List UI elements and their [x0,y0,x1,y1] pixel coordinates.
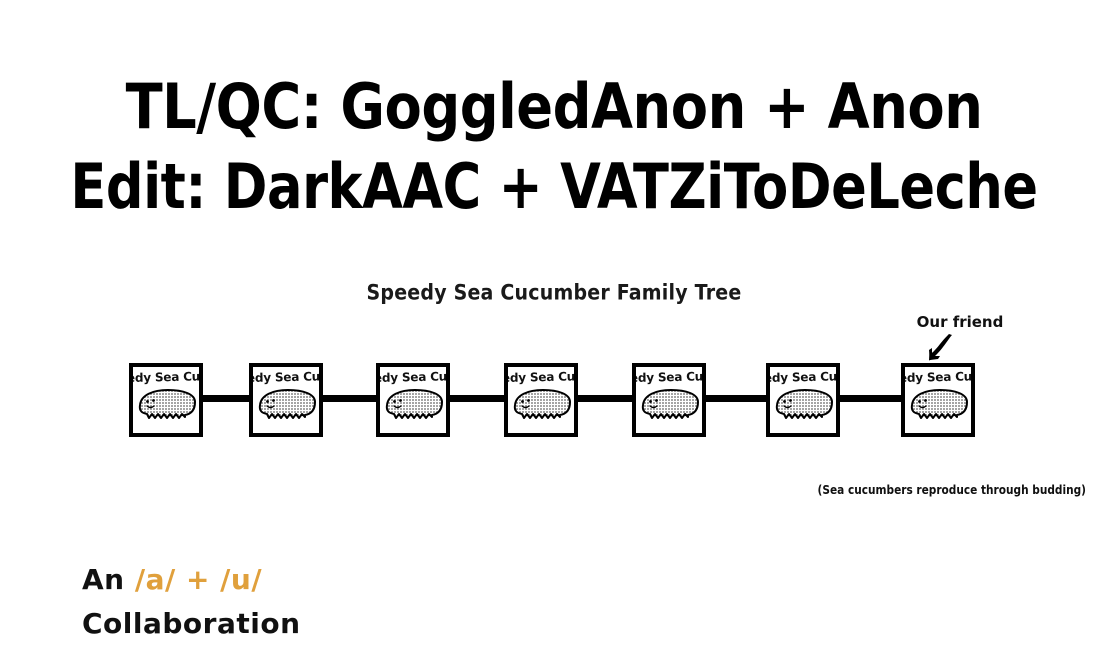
node-label-6: eedy Sea Cuc [766,369,840,385]
node-label-2: eedy Sea Cuc [249,369,323,385]
family-tree-node-2: eedy Sea Cuc [249,363,323,437]
family-tree-node-5: eedy Sea Cuc [632,363,706,437]
family-tree-node-1: eedy Sea Cuc [129,363,203,437]
family-tree-title: Speedy Sea Cucumber Family Tree [0,281,1108,305]
image-canvas: TL/QC: GoggledAnon + Anon Edit: DarkAAC … [0,0,1108,659]
node-label-7: eedy Sea Cuc [901,369,975,385]
budding-footnote: (Sea cucumbers reproduce through budding… [658,483,1086,498]
sea-cucumber-icon [382,387,446,429]
node-label-5: eedy Sea Cuc [632,369,706,385]
credit-line-translation-qc: TL/QC: GoggledAnon + Anon [17,74,1092,141]
family-tree-node-4: eedy Sea Cuc [504,363,578,437]
sea-cucumber-icon [772,387,836,429]
sea-cucumber-icon [255,387,319,429]
family-tree-node-7: eedy Sea Cuc [901,363,975,437]
lineage-connector-line [129,395,975,402]
credit-line-edit: Edit: DarkAAC + VATZiToDeLeche [33,154,1075,221]
node-label-4: eedy Sea Cuc [504,369,578,385]
node-label-3: eedy Sea Cuc [376,369,450,385]
family-tree-row: eedy Sea Cuc eedy Sea Cuc [129,363,975,435]
sea-cucumber-icon [510,387,574,429]
collab-suffix: Collaboration [82,602,301,646]
collaboration-credit: An /a/ + /u/ Collaboration [82,558,301,646]
family-tree-node-3: eedy Sea Cuc [376,363,450,437]
sea-cucumber-icon [135,387,199,429]
sea-cucumber-icon [638,387,702,429]
sea-cucumber-icon [907,387,971,429]
family-tree-node-6: eedy Sea Cuc [766,363,840,437]
our-friend-annotation-label: Our friend [880,313,1040,331]
collab-prefix: An [82,563,135,596]
node-label-1: eedy Sea Cuc [129,369,203,385]
arrow-down-left-icon [924,333,960,363]
collab-boards: /a/ + /u/ [135,563,262,596]
